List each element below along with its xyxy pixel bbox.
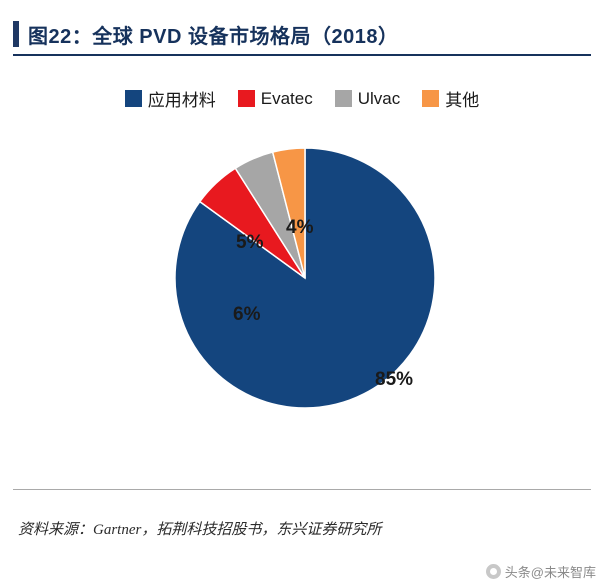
- page-title: 图22：全球 PVD 设备市场格局（2018）: [13, 17, 591, 51]
- legend-item-label: Ulvac: [358, 89, 401, 109]
- chart-legend: 应用材料 Evatec Ulvac 其他: [0, 86, 604, 111]
- legend-swatch-icon: [422, 90, 439, 107]
- legend-swatch-icon: [125, 90, 142, 107]
- legend-item: Ulvac: [335, 89, 401, 109]
- chart-page: 图22：全球 PVD 设备市场格局（2018） 应用材料 Evatec Ulva…: [0, 0, 604, 587]
- watermark-label: 头条@未来智库: [505, 562, 596, 581]
- legend-item-label: 其他: [445, 86, 479, 111]
- legend-item: 应用材料: [125, 86, 216, 111]
- source-note: 资料来源：Gartner，拓荆科技招股书，东兴证券研究所: [18, 518, 381, 539]
- legend-item-label: Evatec: [261, 89, 313, 109]
- footer-divider: [13, 489, 591, 490]
- legend-swatch-icon: [335, 90, 352, 107]
- pie-chart: 85% 6% 5% 4%: [0, 112, 604, 442]
- watermark: 头条@未来智库: [486, 562, 596, 581]
- legend-item: 其他: [422, 86, 479, 111]
- title-accent-bar: [13, 21, 19, 47]
- slice-label-ulvac: 5%: [236, 232, 263, 254]
- legend-swatch-icon: [238, 90, 255, 107]
- slice-label-evatec: 6%: [233, 304, 260, 326]
- watermark-logo-icon: [486, 564, 501, 579]
- title-divider: [13, 54, 591, 56]
- slice-label-applied-materials: 85%: [375, 369, 413, 391]
- legend-item: Evatec: [238, 89, 313, 109]
- slice-label-other: 4%: [286, 217, 313, 239]
- title-text: 图22：全球 PVD 设备市场格局（2018）: [28, 20, 398, 49]
- legend-item-label: 应用材料: [148, 86, 216, 111]
